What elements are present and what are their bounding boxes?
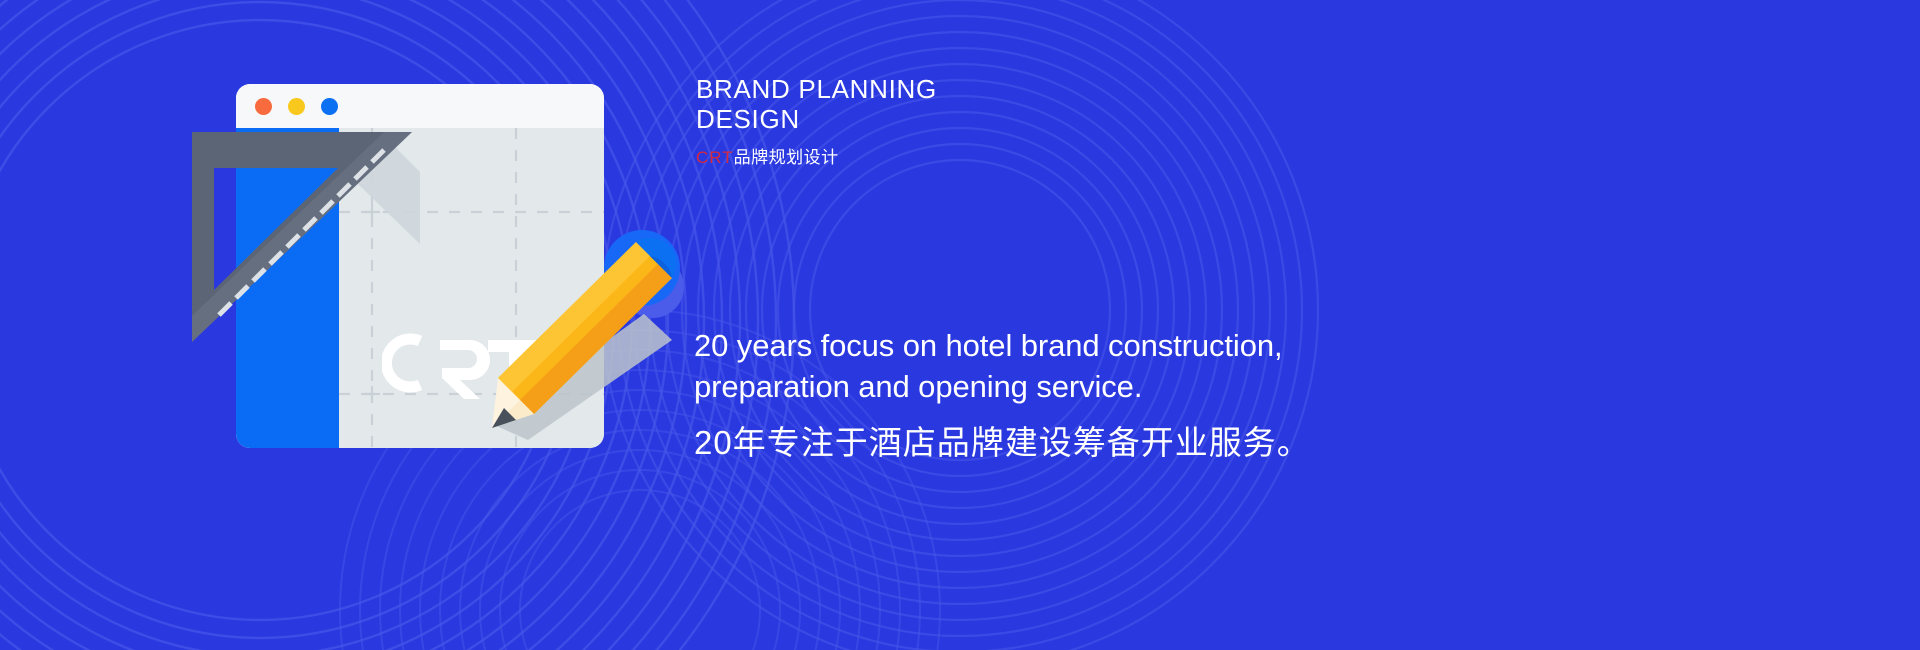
tagline-english-line-2: preparation and opening service.	[694, 367, 1794, 408]
maximize-dot[interactable]	[321, 98, 338, 115]
subhead-label: 品牌规划设计	[734, 148, 839, 167]
triangle-ruler-icon	[184, 126, 420, 342]
minimize-dot[interactable]	[288, 98, 305, 115]
document-titlebar	[236, 84, 604, 128]
subhead: CRT品牌规划设计	[696, 143, 1396, 168]
page-title: BRAND PLANNING DESIGN	[696, 74, 1396, 134]
brand-banner: BRAND PLANNING DESIGN CRT品牌规划设计 20 years…	[0, 0, 1920, 650]
close-dot[interactable]	[255, 98, 272, 115]
brand-mark-crt: CRT	[696, 148, 734, 167]
tagline-english-line-1: 20 years focus on hotel brand constructi…	[694, 326, 1794, 367]
pencil-icon	[476, 228, 696, 440]
tagline-block: 20 years focus on hotel brand constructi…	[694, 326, 1794, 465]
headline-block: BRAND PLANNING DESIGN CRT品牌规划设计	[696, 74, 1396, 168]
tagline-english: 20 years focus on hotel brand constructi…	[694, 326, 1794, 408]
tagline-chinese: 20年专注于酒店品牌建设筹备开业服务。	[694, 422, 1794, 465]
